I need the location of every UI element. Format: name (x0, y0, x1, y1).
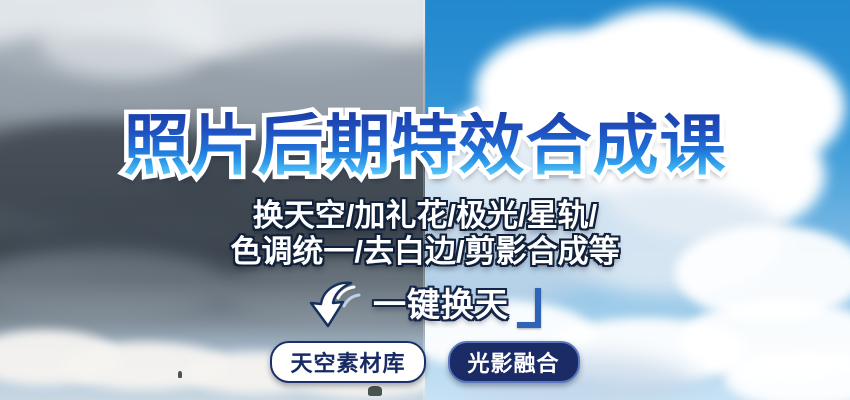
promo-banner: 照片后期特效合成课 照片后期特效合成课 换天空/加礼花/极光/星轨/ 色调统一/… (0, 0, 850, 400)
subtitle-line-1: 换天空/加礼花/极光/星轨/ (0, 199, 850, 234)
curved-down-arrow-icon (307, 278, 367, 330)
cta-label: 一键换天 (373, 278, 509, 326)
badge-label: 光影融合 (468, 346, 560, 378)
badge-label: 天空素材库 (290, 346, 405, 378)
cta-row: 一键换天 (0, 278, 850, 326)
badge-row: 天空素材库 光影融合 (0, 341, 850, 383)
page-title: 照片后期特效合成课 (0, 112, 850, 178)
badge-sky-library[interactable]: 天空素材库 (270, 341, 425, 383)
badge-light-shadow-blend[interactable]: 光影融合 (448, 341, 580, 383)
corner-bracket-icon (517, 288, 543, 332)
subtitle-line-2: 色调统一/去白边/剪影合成等 (0, 235, 850, 270)
